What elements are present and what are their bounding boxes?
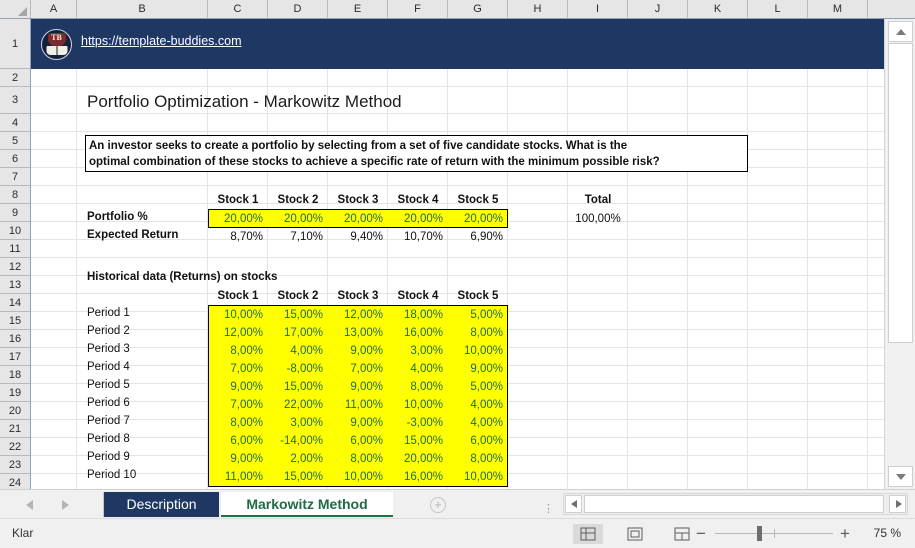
worksheet-grid[interactable]: TB https://template-buddies.com Portfoli… <box>31 19 884 489</box>
logo-book-icon <box>46 46 67 55</box>
excel-window: ABCDEFGHIJKLM 12345678910111213141516171… <box>0 0 915 548</box>
scroll-right-button[interactable] <box>889 495 906 513</box>
sheet-nav-arrows[interactable] <box>18 496 90 514</box>
historical-row-label-period-6: Period 6 <box>87 397 130 409</box>
expected-return-stock-5: 6,90% <box>448 228 506 246</box>
chevron-right-icon <box>896 500 902 508</box>
historical-return-period-3-stock-3[interactable]: 9,00% <box>328 342 386 360</box>
row-header-21[interactable]: 21 <box>0 420 30 438</box>
select-all-corner[interactable] <box>0 0 31 18</box>
zoom-slider-thumb[interactable] <box>757 526 762 541</box>
portfolio-header-stock-1: Stock 1 <box>208 191 268 209</box>
historical-return-period-3-stock-4[interactable]: 3,00% <box>388 342 446 360</box>
page-break-icon <box>675 528 690 541</box>
historical-return-period-9-stock-3[interactable]: 8,00% <box>328 450 386 468</box>
row-header-10[interactable]: 10 <box>0 222 30 240</box>
historical-header-stock-4: Stock 4 <box>388 287 448 305</box>
row-header-1[interactable]: 1 <box>0 19 30 69</box>
horizontal-scroll-thumb[interactable] <box>584 495 884 513</box>
row-header-14[interactable]: 14 <box>0 294 30 312</box>
historical-return-period-1-stock-1[interactable]: 10,00% <box>208 306 266 324</box>
portfolio-weight-stock-2[interactable]: 20,00% <box>268 210 326 228</box>
historical-return-period-5-stock-2[interactable]: 15,00% <box>268 378 326 396</box>
historical-header-stock-3: Stock 3 <box>328 287 388 305</box>
sheet-tab-bar: Description Markowitz Method + ⋮ <box>0 489 915 518</box>
chevron-up-icon <box>896 29 906 35</box>
historical-return-period-5-stock-1[interactable]: 9,00% <box>208 378 266 396</box>
template-buddies-link[interactable]: https://template-buddies.com <box>81 34 242 48</box>
expected-return-stock-4: 10,70% <box>388 228 446 246</box>
vertical-scrollbar[interactable] <box>884 19 915 489</box>
historical-return-period-8-stock-2[interactable]: -14,00% <box>268 432 326 450</box>
portfolio-header-stock-5: Stock 5 <box>448 191 508 209</box>
historical-section-title: Historical data (Returns) on stocks <box>87 271 277 283</box>
page-break-view-button[interactable] <box>667 524 697 544</box>
zoom-level-label: 75 % <box>874 526 901 540</box>
historical-return-period-10-stock-1[interactable]: 11,00% <box>208 468 266 486</box>
row-header-23[interactable]: 23 <box>0 456 30 474</box>
problem-statement-line-1: An investor seeks to create a portfolio … <box>89 138 747 154</box>
historical-return-period-1-stock-4[interactable]: 18,00% <box>388 306 446 324</box>
row-header-11[interactable]: 11 <box>0 240 30 258</box>
row-header-20[interactable]: 20 <box>0 402 30 420</box>
row-header-18[interactable]: 18 <box>0 366 30 384</box>
previous-sheet-icon[interactable] <box>26 500 33 510</box>
historical-return-period-6-stock-1[interactable]: 7,00% <box>208 396 266 414</box>
row-header-17[interactable]: 17 <box>0 348 30 366</box>
sheet-tab-description[interactable]: Description <box>103 492 219 517</box>
historical-return-period-10-stock-2[interactable]: 15,00% <box>268 468 326 486</box>
historical-return-period-7-stock-4[interactable]: -3,00% <box>388 414 446 432</box>
zoom-slider-midpoint <box>774 529 775 538</box>
historical-row-label-period-3: Period 3 <box>87 343 130 355</box>
select-all-triangle-icon <box>18 7 27 16</box>
brand-banner: TB https://template-buddies.com <box>31 19 884 69</box>
historical-return-period-6-stock-3[interactable]: 11,00% <box>328 396 386 414</box>
row-header-15[interactable]: 15 <box>0 312 30 330</box>
historical-return-period-3-stock-2[interactable]: 4,00% <box>268 342 326 360</box>
historical-return-period-9-stock-1[interactable]: 9,00% <box>208 450 266 468</box>
historical-row-label-period-8: Period 8 <box>87 433 130 445</box>
historical-return-period-8-stock-1[interactable]: 6,00% <box>208 432 266 450</box>
column-header-strip: ABCDEFGHIJKLM <box>0 0 915 19</box>
normal-view-icon <box>581 528 596 541</box>
row-header-7[interactable]: 7 <box>0 168 30 186</box>
row-header-4[interactable]: 4 <box>0 114 30 132</box>
row-header-3[interactable]: 3 <box>0 87 30 114</box>
historical-return-period-6-stock-5[interactable]: 4,00% <box>448 396 506 414</box>
historical-row-label-period-9: Period 9 <box>87 451 130 463</box>
logo-initials: TB <box>42 33 71 42</box>
portfolio-header-total: Total <box>568 191 628 209</box>
row-header-6[interactable]: 6 <box>0 150 30 168</box>
historical-header-stock-5: Stock 5 <box>448 287 508 305</box>
historical-return-period-7-stock-3[interactable]: 9,00% <box>328 414 386 432</box>
historical-return-period-4-stock-5[interactable]: 9,00% <box>448 360 506 378</box>
row-header-19[interactable]: 19 <box>0 384 30 402</box>
historical-return-period-4-stock-1[interactable]: 7,00% <box>208 360 266 378</box>
historical-return-period-10-stock-3[interactable]: 10,00% <box>328 468 386 486</box>
portfolio-row-label-expected-return: Expected Return <box>87 229 178 241</box>
column-header-g[interactable]: G <box>448 0 508 18</box>
historical-return-period-3-stock-1[interactable]: 8,00% <box>208 342 266 360</box>
historical-row-label-period-2: Period 2 <box>87 325 130 337</box>
historical-return-period-10-stock-4[interactable]: 16,00% <box>388 468 446 486</box>
column-header-l[interactable]: L <box>748 0 808 18</box>
historical-return-period-1-stock-5[interactable]: 5,00% <box>448 306 506 324</box>
portfolio-header-stock-3: Stock 3 <box>328 191 388 209</box>
historical-return-period-5-stock-5[interactable]: 5,00% <box>448 378 506 396</box>
page-layout-icon <box>628 528 643 541</box>
historical-return-period-7-stock-2[interactable]: 3,00% <box>268 414 326 432</box>
next-sheet-icon[interactable] <box>62 500 69 510</box>
status-message: Klar <box>12 526 33 540</box>
historical-return-period-3-stock-5[interactable]: 10,00% <box>448 342 506 360</box>
historical-return-period-9-stock-4[interactable]: 20,00% <box>388 450 446 468</box>
row-header-9[interactable]: 9 <box>0 204 30 222</box>
portfolio-row-label-weights: Portfolio % <box>87 211 148 223</box>
scroll-left-button[interactable] <box>565 495 582 513</box>
column-header-e[interactable]: E <box>328 0 388 18</box>
tab-split-handle[interactable]: ⋮ <box>543 502 555 515</box>
historical-return-period-4-stock-3[interactable]: 7,00% <box>328 360 386 378</box>
column-header-a[interactable]: A <box>31 0 77 18</box>
historical-return-period-6-stock-2[interactable]: 22,00% <box>268 396 326 414</box>
vertical-scroll-thumb[interactable] <box>888 43 913 343</box>
historical-header-stock-2: Stock 2 <box>268 287 328 305</box>
portfolio-weight-stock-4[interactable]: 20,00% <box>388 210 446 228</box>
zoom-in-button[interactable]: + <box>840 526 850 541</box>
portfolio-weight-stock-1[interactable]: 20,00% <box>208 210 266 228</box>
column-header-m[interactable]: M <box>808 0 868 18</box>
historical-return-period-1-stock-2[interactable]: 15,00% <box>268 306 326 324</box>
column-header-k[interactable]: K <box>688 0 748 18</box>
historical-return-period-8-stock-3[interactable]: 6,00% <box>328 432 386 450</box>
scroll-up-button[interactable] <box>888 21 913 42</box>
status-bar: Klar − + 75 % <box>0 518 915 548</box>
portfolio-header-stock-2: Stock 2 <box>268 191 328 209</box>
row-header-5[interactable]: 5 <box>0 132 30 150</box>
portfolio-weight-stock-5[interactable]: 20,00% <box>448 210 506 228</box>
page-layout-view-button[interactable] <box>620 524 650 544</box>
horizontal-scrollbar[interactable] <box>563 493 908 515</box>
row-header-8[interactable]: 8 <box>0 186 30 204</box>
column-header-b[interactable]: B <box>77 0 208 18</box>
portfolio-weights-total: 100,00% <box>568 210 628 228</box>
column-header-h[interactable]: H <box>508 0 568 18</box>
portfolio-weight-stock-3[interactable]: 20,00% <box>328 210 386 228</box>
historical-return-period-8-stock-5[interactable]: 6,00% <box>448 432 506 450</box>
page-title: Portfolio Optimization - Markowitz Metho… <box>87 92 402 112</box>
historical-return-period-8-stock-4[interactable]: 15,00% <box>388 432 446 450</box>
zoom-out-button[interactable]: − <box>696 526 706 541</box>
expected-return-stock-2: 7,10% <box>268 228 326 246</box>
scroll-down-button[interactable] <box>888 466 913 487</box>
historical-row-label-period-4: Period 4 <box>87 361 130 373</box>
template-buddies-logo-icon: TB <box>41 29 72 60</box>
expected-return-stock-3: 9,40% <box>328 228 386 246</box>
column-header-j[interactable]: J <box>628 0 688 18</box>
row-header-16[interactable]: 16 <box>0 330 30 348</box>
historical-row-label-period-5: Period 5 <box>87 379 130 391</box>
historical-return-period-4-stock-2[interactable]: -8,00% <box>268 360 326 378</box>
expected-return-stock-1: 8,70% <box>208 228 266 246</box>
historical-return-period-2-stock-4[interactable]: 16,00% <box>388 324 446 342</box>
row-header-strip: 123456789101112131415161718192021222324 <box>0 19 31 489</box>
column-header-d[interactable]: D <box>268 0 328 18</box>
historical-return-period-2-stock-1[interactable]: 12,00% <box>208 324 266 342</box>
historical-return-period-2-stock-2[interactable]: 17,00% <box>268 324 326 342</box>
historical-return-period-1-stock-3[interactable]: 12,00% <box>328 306 386 324</box>
historical-header-stock-1: Stock 1 <box>208 287 268 305</box>
historical-return-period-2-stock-3[interactable]: 13,00% <box>328 324 386 342</box>
historical-return-period-2-stock-5[interactable]: 8,00% <box>448 324 506 342</box>
historical-return-period-7-stock-1[interactable]: 8,00% <box>208 414 266 432</box>
add-sheet-button[interactable]: + <box>430 497 446 513</box>
historical-row-label-period-7: Period 7 <box>87 415 130 427</box>
row-header-13[interactable]: 13 <box>0 276 30 294</box>
historical-return-period-4-stock-4[interactable]: 4,00% <box>388 360 446 378</box>
portfolio-header-stock-4: Stock 4 <box>388 191 448 209</box>
row-header-12[interactable]: 12 <box>0 258 30 276</box>
historical-return-period-9-stock-2[interactable]: 2,00% <box>268 450 326 468</box>
problem-statement-box: An investor seeks to create a portfolio … <box>85 135 748 172</box>
column-header-f[interactable]: F <box>388 0 448 18</box>
problem-statement-line-2: optimal combination of these stocks to a… <box>89 154 747 170</box>
historical-return-period-7-stock-5[interactable]: 4,00% <box>448 414 506 432</box>
historical-return-period-10-stock-5[interactable]: 10,00% <box>448 468 506 486</box>
row-header-2[interactable]: 2 <box>0 69 30 87</box>
sheet-tab-markowitz-method[interactable]: Markowitz Method <box>221 492 393 517</box>
column-header-c[interactable]: C <box>208 0 268 18</box>
row-header-22[interactable]: 22 <box>0 438 30 456</box>
historical-return-period-9-stock-5[interactable]: 8,00% <box>448 450 506 468</box>
historical-return-period-6-stock-4[interactable]: 10,00% <box>388 396 446 414</box>
chevron-left-icon <box>571 500 577 508</box>
chevron-down-icon <box>896 474 906 480</box>
historical-return-period-5-stock-3[interactable]: 9,00% <box>328 378 386 396</box>
historical-row-label-period-10: Period 10 <box>87 469 136 481</box>
column-header-i[interactable]: I <box>568 0 628 18</box>
historical-return-period-5-stock-4[interactable]: 8,00% <box>388 378 446 396</box>
normal-view-button[interactable] <box>573 524 603 544</box>
historical-row-label-period-1: Period 1 <box>87 307 130 319</box>
